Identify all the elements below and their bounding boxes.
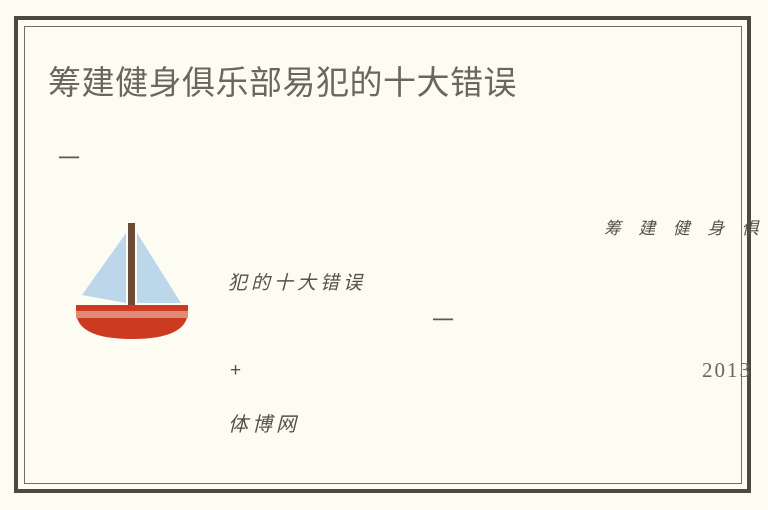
sailboat-svg (68, 215, 196, 341)
sailboat-sail-right (137, 233, 181, 303)
plus-marker: + (230, 360, 241, 382)
handwritten-subtitle: 犯的十大错误 (228, 268, 366, 295)
sailboat-icon (68, 215, 196, 341)
slide-canvas: 筹建健身俱乐部易犯的十大错误 一 一 犯的十大错误 + 体博网 筹 建 健 身 … (0, 0, 768, 510)
dash-marker-middle: 一 (432, 310, 454, 332)
sailboat-sail-left (82, 233, 126, 303)
handwritten-watermark: 筹 建 健 身 俱 乐 (604, 214, 768, 239)
sailboat-hull (76, 305, 188, 339)
handwritten-brand: 体博网 (228, 408, 300, 437)
sailboat-mast (128, 223, 135, 315)
dash-marker-left: 一 (58, 148, 80, 170)
year-label: 2013 (702, 358, 752, 383)
sailboat-hull-stripe (76, 311, 188, 318)
page-title: 筹建健身俱乐部易犯的十大错误 (48, 60, 768, 106)
